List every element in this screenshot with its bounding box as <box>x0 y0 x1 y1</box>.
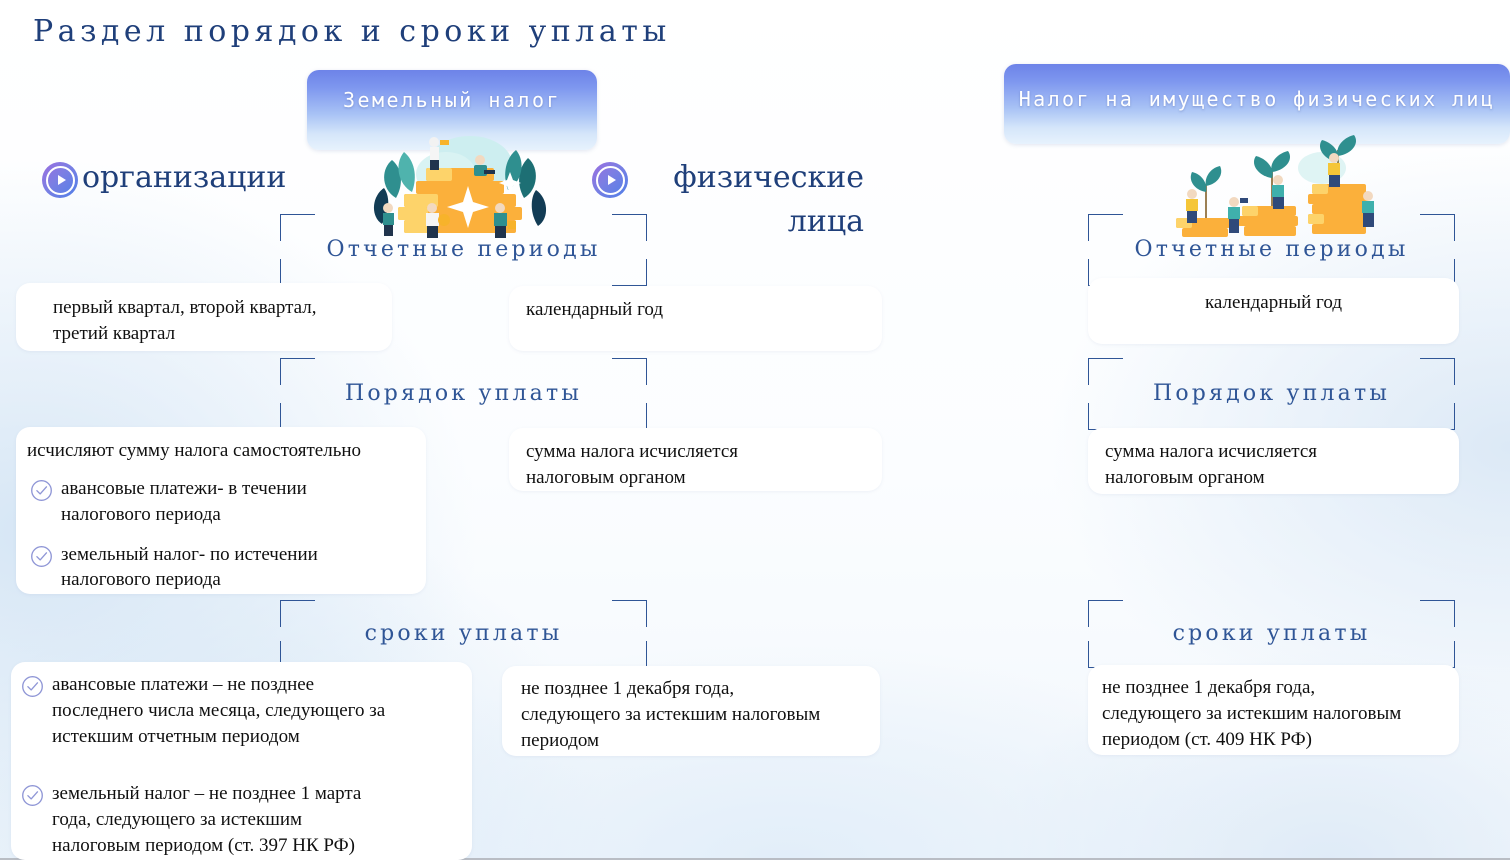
card-payment-order-organizations: исчисляют сумму налога самостоятельно ав… <box>16 427 426 594</box>
card-reporting-periods-organizations-text: первый квартал, второй квартал, третий к… <box>53 295 380 347</box>
section-heading-payment-order: Порядок уплаты <box>280 381 647 406</box>
card-payment-deadlines-individuals: не позднее 1 декабря года, следующего за… <box>502 666 880 756</box>
section-heading-payment-order: Порядок уплаты <box>1088 381 1455 406</box>
card-reporting-periods-property-text: календарный год <box>1088 290 1459 316</box>
check-circle-icon <box>21 675 44 698</box>
card-payment-order-organizations-lead: исчисляют сумму налога самостоятельно <box>27 438 416 464</box>
audience-individuals-label: физические лица <box>632 156 864 243</box>
bracket-reporting-periods-property: Отчетные периоды <box>1088 214 1455 286</box>
card-reporting-periods-property: календарный год <box>1088 278 1459 344</box>
list-item-text: земельный налог- по истечении налогового… <box>61 542 318 594</box>
card-payment-order-individuals: сумма налога исчисляется налоговым орган… <box>509 428 882 491</box>
card-payment-deadlines-individuals-text: не позднее 1 декабря года, следующего за… <box>521 676 872 753</box>
banner-property-tax-label: Налог на имущество физических лиц <box>1004 87 1510 111</box>
check-circle-icon <box>21 784 44 807</box>
bracket-payment-order-land: Порядок уплаты <box>280 358 647 430</box>
list-item: авансовые платежи- в течении налогового … <box>30 476 416 528</box>
banner-land-tax[interactable]: Земельный налог <box>307 70 597 150</box>
list-item-text: авансовые платежи- в течении налогового … <box>61 476 307 528</box>
card-reporting-periods-organizations: первый квартал, второй квартал, третий к… <box>16 283 392 351</box>
card-payment-deadlines-property-text: не позднее 1 декабря года, следующего за… <box>1102 675 1451 752</box>
play-circle-icon[interactable] <box>592 162 628 198</box>
slide-canvas: Раздел порядок и сроки уплаты Земельный … <box>0 0 1510 860</box>
check-circle-icon <box>30 545 53 568</box>
list-item-text: земельный налог – не позднее 1 марта год… <box>52 781 361 858</box>
card-reporting-periods-individuals: календарный год <box>509 286 882 351</box>
card-payment-deadlines-organizations: авансовые платежи – не позднее последнег… <box>11 662 472 860</box>
audience-organizations[interactable]: организации <box>42 156 286 200</box>
card-payment-deadlines-property: не позднее 1 декабря года, следующего за… <box>1088 665 1459 755</box>
card-reporting-periods-individuals-text: календарный год <box>526 297 870 323</box>
section-heading-reporting-periods: Отчетные периоды <box>1088 237 1455 262</box>
card-payment-order-individuals-text: сумма налога исчисляется налоговым орган… <box>526 439 870 491</box>
card-payment-order-property-text: сумма налога исчисляется налоговым орган… <box>1105 439 1447 491</box>
list-item: земельный налог – не позднее 1 марта год… <box>21 781 462 858</box>
bracket-payment-deadlines-land: сроки уплаты <box>280 600 647 668</box>
banner-land-tax-label: Земельный налог <box>307 88 597 112</box>
banner-property-tax[interactable]: Налог на имущество физических лиц <box>1004 64 1510 144</box>
section-heading-reporting-periods: Отчетные периоды <box>280 237 647 262</box>
bracket-payment-order-property: Порядок уплаты <box>1088 358 1455 430</box>
page-title: Раздел порядок и сроки уплаты <box>33 14 671 49</box>
check-circle-icon <box>30 479 53 502</box>
card-payment-order-property: сумма налога исчисляется налоговым орган… <box>1088 428 1459 494</box>
bracket-payment-deadlines-property: сроки уплаты <box>1088 600 1455 668</box>
play-circle-icon[interactable] <box>42 162 78 198</box>
section-heading-payment-deadlines: сроки уплаты <box>1088 621 1455 646</box>
bracket-reporting-periods-land: Отчетные периоды <box>280 214 647 286</box>
list-item: земельный налог- по истечении налогового… <box>30 542 416 594</box>
audience-organizations-label: организации <box>82 156 286 200</box>
list-item-text: авансовые платежи – не позднее последнег… <box>52 672 385 749</box>
section-heading-payment-deadlines: сроки уплаты <box>280 621 647 646</box>
list-item: авансовые платежи – не позднее последнег… <box>21 672 462 749</box>
